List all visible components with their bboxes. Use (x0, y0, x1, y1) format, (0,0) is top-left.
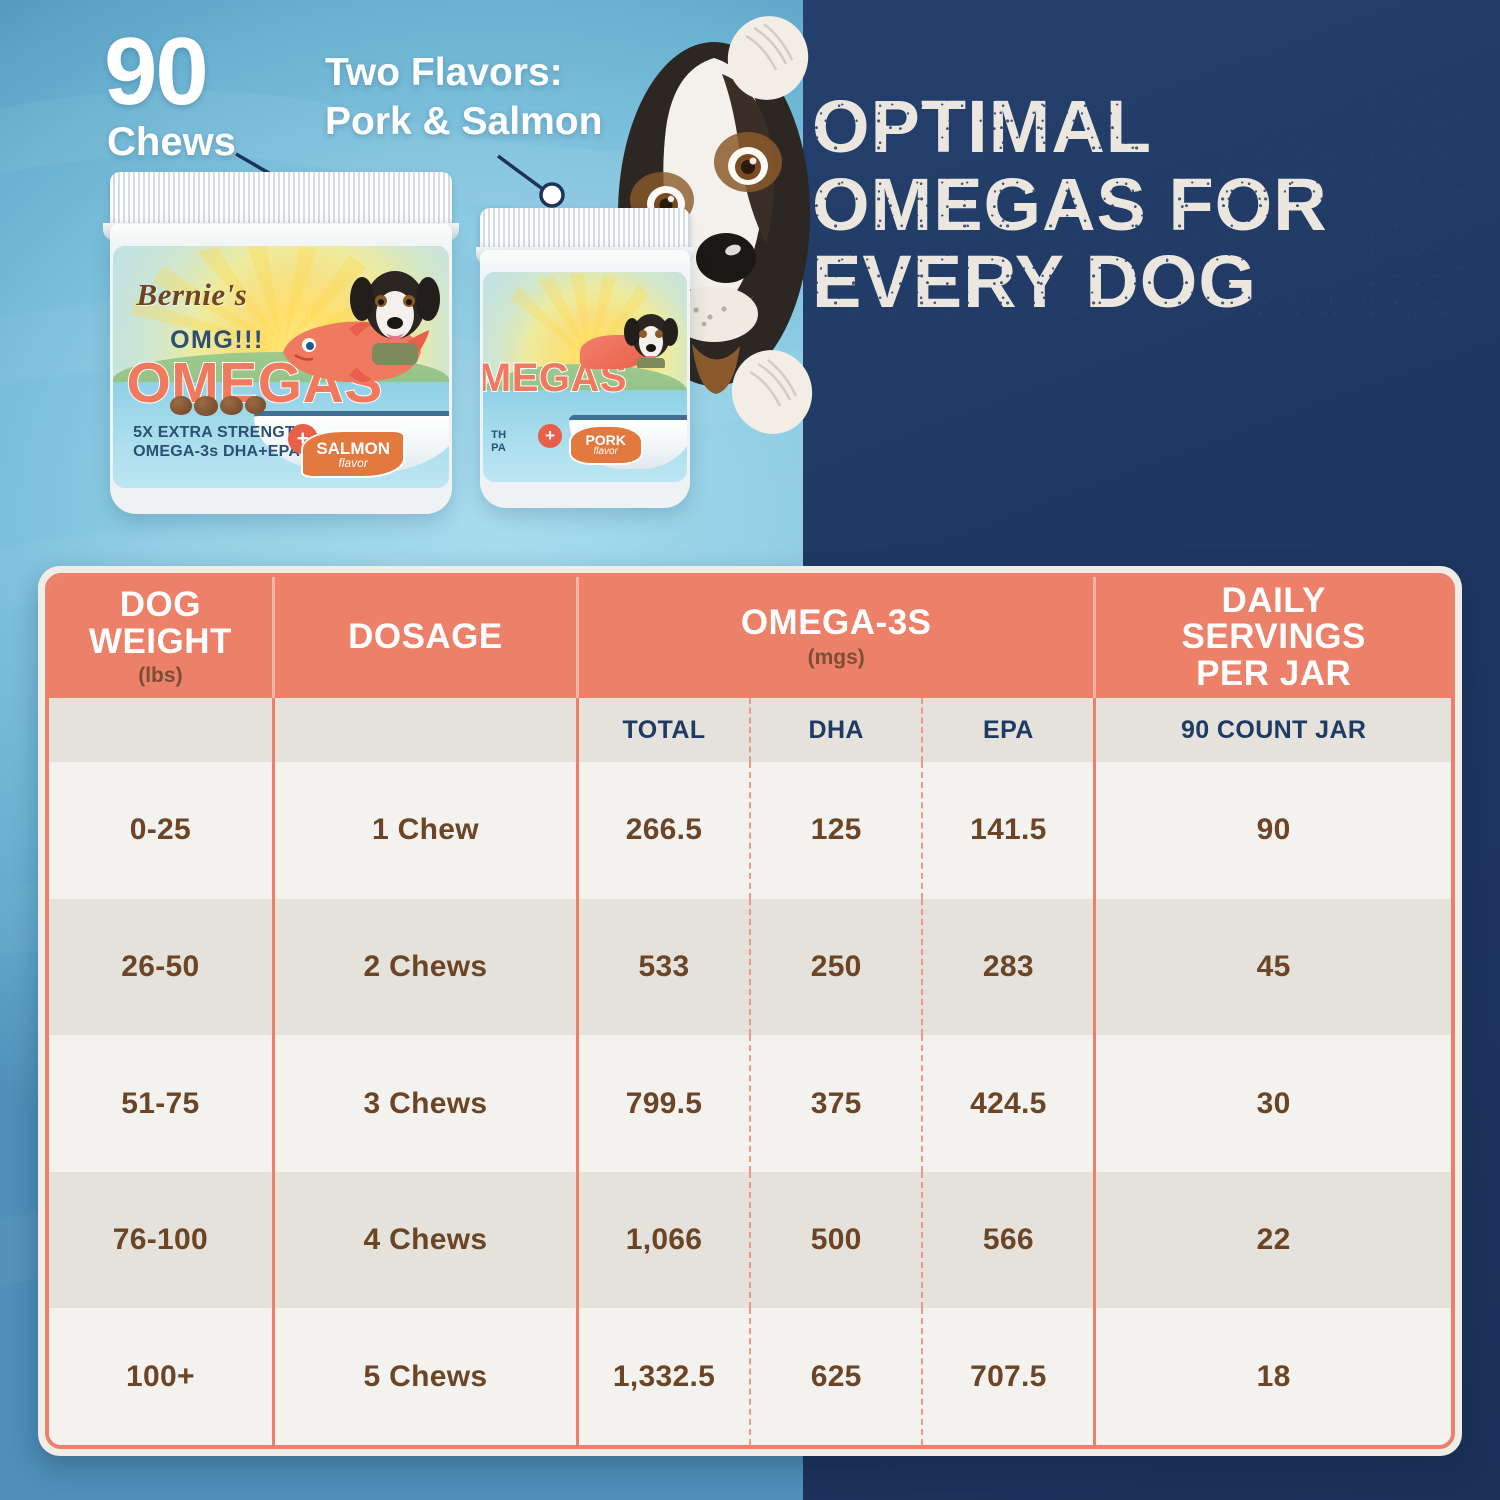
chew-pieces-icon (170, 396, 266, 416)
cell-weight: 100+ (49, 1308, 273, 1445)
cell-dosage: 1 Chew (273, 762, 577, 899)
table-row: 0-25 1 Chew 266.5 125 141.5 90 (49, 762, 1451, 899)
header-daily-l2: SERVINGS (1100, 619, 1447, 655)
cell-dha: 625 (750, 1308, 922, 1445)
cell-total: 1,066 (578, 1172, 750, 1309)
dosage-table-body: 0-25 1 Chew 266.5 125 141.5 90 26-50 2 C… (49, 762, 1451, 1445)
headline-line-2: OMEGAS FOR (812, 166, 1472, 244)
header-daily-l1: DAILY (1100, 583, 1447, 619)
jar-body-salmon: Bernie's OMG!!! OMEGAS 5X EXTRA STRENGTH… (110, 224, 452, 514)
two-flavors-callout: Two Flavors: Pork & Salmon (325, 48, 602, 146)
cell-total: 266.5 (578, 762, 750, 899)
dosage-table: DOG WEIGHT (lbs) DOSAGE OMEGA-3S (mgs) D… (49, 577, 1451, 1445)
cell-epa: 707.5 (922, 1308, 1094, 1445)
dosage-table-inner: DOG WEIGHT (lbs) DOSAGE OMEGA-3S (mgs) D… (45, 573, 1455, 1449)
cell-dha: 125 (750, 762, 922, 899)
header-daily-l3: PER JAR (1100, 656, 1447, 692)
cell-servings: 45 (1095, 899, 1451, 1036)
headline-line-1: OPTIMAL (812, 88, 1472, 166)
flavor-badge-pork: PORK flavor (569, 425, 643, 465)
two-flavors-line2: Pork & Salmon (325, 97, 602, 146)
table-row: 76-100 4 Chews 1,066 500 566 22 (49, 1172, 1451, 1309)
subheader-total: TOTAL (578, 698, 750, 762)
flavor-badge-salmon: SALMON flavor (301, 430, 405, 478)
jar-label-pork: OMEGAS TH PA + PORK flavor (483, 272, 687, 482)
subheader-dha: DHA (750, 698, 922, 762)
flavor-badge-salmon-sub: flavor (338, 457, 367, 469)
header-omega3s-label: OMEGA-3S (583, 605, 1089, 641)
cell-weight: 26-50 (49, 899, 273, 1036)
cell-servings: 22 (1095, 1172, 1451, 1309)
cell-servings: 90 (1095, 762, 1451, 899)
header-dosage-label: DOSAGE (279, 619, 572, 655)
chew-count-callout: 90 Chews (104, 28, 236, 162)
cell-dha: 500 (750, 1172, 922, 1309)
subheader-count-jar: 90 COUNT JAR (1095, 698, 1451, 762)
table-row: 100+ 5 Chews 1,332.5 625 707.5 18 (49, 1308, 1451, 1445)
cell-weight: 76-100 (49, 1172, 273, 1309)
header-dog-weight-l2: WEIGHT (53, 624, 268, 660)
jar-body-pork: OMEGAS TH PA + PORK flavor (480, 250, 690, 508)
cell-dosage: 2 Chews (273, 899, 577, 1036)
jar-cap-salmon (110, 172, 452, 230)
two-flavors-line1: Two Flavors: (325, 48, 602, 97)
headline-line-3: EVERY DOG (812, 243, 1472, 321)
table-row: 26-50 2 Chews 533 250 283 45 (49, 899, 1451, 1036)
chew-count-label: Chews (107, 122, 236, 162)
cell-servings: 18 (1095, 1308, 1451, 1445)
cell-dosage: 4 Chews (273, 1172, 577, 1309)
subheader-blank-weight (49, 698, 273, 762)
cell-dha: 375 (750, 1035, 922, 1172)
cell-epa: 141.5 (922, 762, 1094, 899)
jar-strength-pork-line2: PA (491, 442, 506, 455)
table-row: 51-75 3 Chews 799.5 375 424.5 30 (49, 1035, 1451, 1172)
cell-epa: 424.5 (922, 1035, 1094, 1172)
flavor-badge-salmon-name: SALMON (316, 440, 390, 457)
header-daily-servings: DAILY SERVINGS PER JAR (1095, 577, 1451, 698)
dog-mascot-icon-pork (623, 306, 679, 368)
flavor-badge-pork-name: PORK (585, 433, 625, 447)
dosage-table-container: DOG WEIGHT (lbs) DOSAGE OMEGA-3S (mgs) D… (38, 566, 1462, 1456)
table-group-header-row: DOG WEIGHT (lbs) DOSAGE OMEGA-3S (mgs) D… (49, 577, 1451, 698)
table-sub-header-row: TOTAL DHA EPA 90 COUNT JAR (49, 698, 1451, 762)
product-jar-pork: OMEGAS TH PA + PORK flavor (480, 208, 690, 508)
subheader-blank-dosage (273, 698, 577, 762)
cell-epa: 566 (922, 1172, 1094, 1309)
chew-count-number: 90 (104, 28, 236, 116)
cell-total: 1,332.5 (578, 1308, 750, 1445)
header-dog-weight-unit: (lbs) (53, 664, 268, 688)
jar-strength-pork-line1: TH (491, 429, 506, 442)
cell-dha: 250 (750, 899, 922, 1036)
cell-total: 533 (578, 899, 750, 1036)
header-dog-weight: DOG WEIGHT (lbs) (49, 577, 273, 698)
cell-dosage: 3 Chews (273, 1035, 577, 1172)
page-headline: OPTIMAL OMEGAS FOR EVERY DOG (812, 88, 1472, 321)
jar-strength-line2: OMEGA-3s DHA+EPA (133, 443, 307, 462)
jar-strength-text: 5X EXTRA STRENGTH OMEGA-3s DHA+EPA (133, 424, 307, 461)
jar-cap-pork (480, 208, 690, 254)
cell-servings: 30 (1095, 1035, 1451, 1172)
jar-strength-pork: TH PA (491, 429, 506, 455)
jar-brand-name: Bernie's (137, 277, 248, 313)
header-dog-weight-l1: DOG (53, 587, 268, 623)
header-dosage: DOSAGE (273, 577, 577, 698)
jar-label-salmon: Bernie's OMG!!! OMEGAS 5X EXTRA STRENGTH… (113, 246, 449, 488)
jar-strength-line1: 5X EXTRA STRENGTH (133, 424, 307, 443)
cell-weight: 0-25 (49, 762, 273, 899)
cell-dosage: 5 Chews (273, 1308, 577, 1445)
cell-total: 799.5 (578, 1035, 750, 1172)
flavor-badge-pork-sub: flavor (593, 447, 617, 457)
dog-mascot-icon-salmon (348, 261, 442, 365)
header-omega3s-unit: (mgs) (583, 646, 1089, 670)
cell-epa: 283 (922, 899, 1094, 1036)
cell-weight: 51-75 (49, 1035, 273, 1172)
subheader-epa: EPA (922, 698, 1094, 762)
header-omega3s: OMEGA-3S (mgs) (578, 577, 1095, 698)
product-jar-salmon: Bernie's OMG!!! OMEGAS 5X EXTRA STRENGTH… (110, 172, 452, 514)
